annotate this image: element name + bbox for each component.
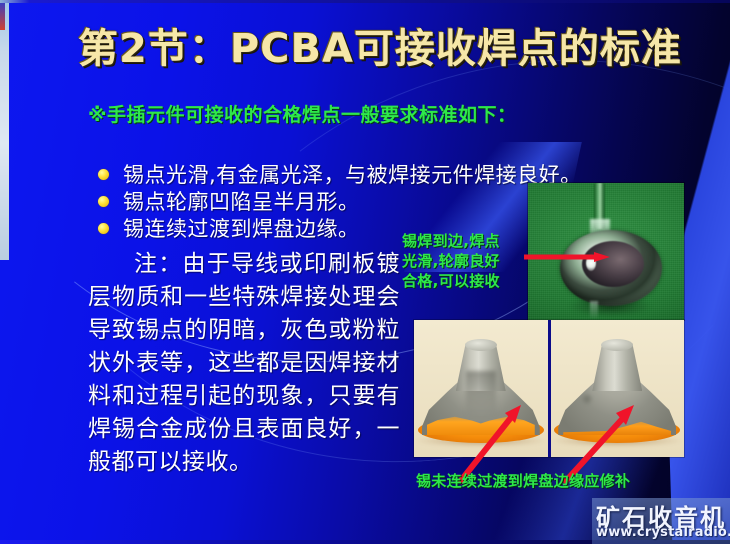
bullet-dot-icon (98, 223, 109, 234)
annotation-line-2: 光滑,轮廓良好 (402, 251, 532, 271)
bullet-label-1: 锡点光滑,有金属光泽，与被焊接元件焊接良好。 (123, 159, 582, 189)
cone-cap (465, 339, 497, 351)
bullet-label-3: 锡连续过渡到焊盘边缘。 (123, 213, 360, 243)
annotation-acceptable-joint: 锡焊到边,焊点 光滑,轮廓良好 合格,可以接收 (402, 231, 532, 291)
presentation-slide: 第2节：PCBA可接收焊点的标准 ※手插元件可接收的合格焊点一般要求标准如下： … (0, 0, 730, 544)
slide-left-corner-marker (0, 0, 5, 30)
pcb-trace (590, 301, 598, 320)
note-paragraph: 注：由于导线或印刷板镀层物质和一些特殊焊接处理会导致锡点的阴暗，灰色或粉粒状外表… (88, 248, 400, 479)
red-arrow-to-pcb-joint-icon (524, 252, 610, 262)
annotation-line-1: 锡焊到边,焊点 (402, 231, 532, 251)
bullet-dot-icon (98, 169, 109, 180)
cone-cap (601, 339, 633, 351)
slide-title: 第2节：PCBA可接收焊点的标准 (78, 28, 678, 71)
annotation-defective-joint: 锡未连续过渡到焊盘边缘应修补 (416, 470, 630, 491)
bullet-label-2: 锡点轮廓凹陷呈半月形。 (123, 186, 360, 216)
site-watermark: 矿石收音机 www.crystalradio.cn (592, 498, 730, 544)
bullet-dot-icon (98, 196, 109, 207)
slide-left-edge-strip (0, 0, 9, 260)
cone-blemish (580, 393, 594, 405)
annotation-line-3: 合格,可以接收 (402, 271, 532, 291)
bullet-item-3: 锡连续过渡到焊盘边缘。 (98, 213, 360, 243)
bullet-item-2: 锡点轮廓凹陷呈半月形。 (98, 186, 360, 216)
bullet-item-1: 锡点光滑,有金属光泽，与被焊接元件焊接良好。 (98, 159, 582, 189)
slide-subtitle: ※手插元件可接收的合格焊点一般要求标准如下： (88, 100, 516, 127)
slide-top-edge (0, 0, 730, 3)
watermark-url-text: www.crystalradio.cn (596, 525, 730, 540)
